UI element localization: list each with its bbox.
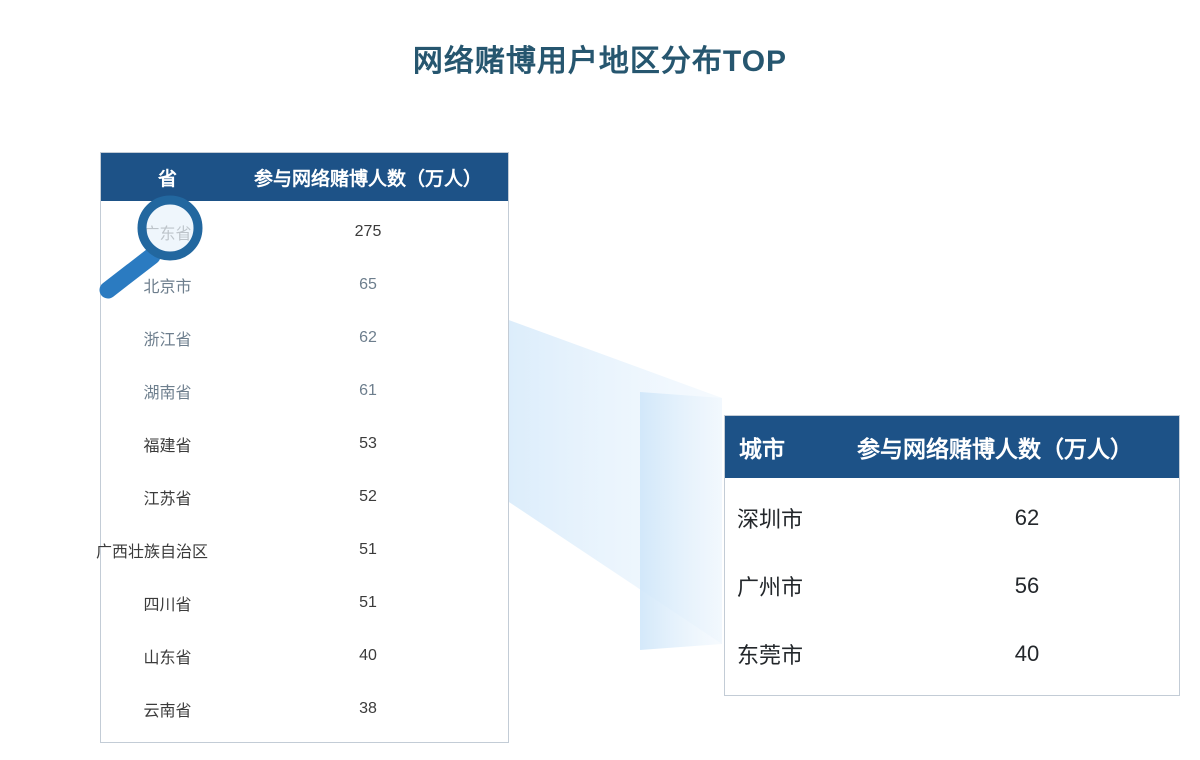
table-row[interactable]: 北京市 65 bbox=[101, 258, 508, 311]
province-value: 40 bbox=[234, 647, 508, 665]
province-value: 51 bbox=[234, 594, 508, 612]
province-name: 云南省 bbox=[101, 697, 234, 721]
province-header-value: 参与网络赌博人数（万人） bbox=[234, 164, 508, 191]
province-name: 广西壮族自治区 bbox=[70, 538, 234, 562]
province-value: 51 bbox=[234, 541, 508, 559]
province-name: 福建省 bbox=[101, 432, 234, 456]
table-row[interactable]: 广东省 275 bbox=[101, 205, 508, 258]
city-name: 广州市 bbox=[737, 570, 937, 602]
table-row[interactable]: 云南省 38 bbox=[101, 682, 508, 735]
province-value: 275 bbox=[234, 223, 508, 241]
table-row[interactable]: 福建省 53 bbox=[101, 417, 508, 470]
page-title: 网络赌博用户地区分布TOP bbox=[0, 36, 1200, 80]
city-value: 40 bbox=[937, 641, 1117, 667]
table-row[interactable]: 深圳市 62 bbox=[725, 484, 1179, 552]
city-table-body: 深圳市 62 广州市 56 东莞市 40 bbox=[725, 478, 1179, 688]
city-header-name: 城市 bbox=[739, 430, 857, 464]
province-value: 62 bbox=[234, 329, 508, 347]
province-name: 广东省 bbox=[101, 220, 234, 244]
province-header-name: 省 bbox=[101, 164, 234, 191]
province-name: 四川省 bbox=[101, 591, 234, 615]
province-name: 山东省 bbox=[101, 644, 234, 668]
province-name: 湖南省 bbox=[101, 379, 234, 403]
province-table-header: 省 参与网络赌博人数（万人） bbox=[101, 153, 508, 201]
table-row[interactable]: 江苏省 52 bbox=[101, 470, 508, 523]
table-row[interactable]: 湖南省 61 bbox=[101, 364, 508, 417]
province-value: 61 bbox=[234, 382, 508, 400]
table-row[interactable]: 东莞市 40 bbox=[725, 620, 1179, 688]
table-row[interactable]: 山东省 40 bbox=[101, 629, 508, 682]
province-table: 省 参与网络赌博人数（万人） 广东省 275 北京市 65 浙江省 62 湖南省… bbox=[100, 152, 509, 743]
city-table-header: 城市 参与网络赌博人数（万人） bbox=[725, 416, 1179, 478]
city-name: 深圳市 bbox=[737, 502, 937, 534]
province-value: 65 bbox=[234, 276, 508, 294]
province-table-body: 广东省 275 北京市 65 浙江省 62 湖南省 61 福建省 53 江苏省 … bbox=[101, 201, 508, 735]
table-row[interactable]: 浙江省 62 bbox=[101, 311, 508, 364]
city-header-value: 参与网络赌博人数（万人） bbox=[857, 430, 1167, 464]
city-name: 东莞市 bbox=[737, 638, 937, 670]
province-name: 北京市 bbox=[101, 273, 234, 297]
province-name: 江苏省 bbox=[101, 485, 234, 509]
province-value: 38 bbox=[234, 700, 508, 718]
province-name: 浙江省 bbox=[101, 326, 234, 350]
city-value: 56 bbox=[937, 573, 1117, 599]
province-value: 53 bbox=[234, 435, 508, 453]
table-row[interactable]: 广州市 56 bbox=[725, 552, 1179, 620]
table-row[interactable]: 广西壮族自治区 51 bbox=[101, 523, 508, 576]
city-table: 城市 参与网络赌博人数（万人） 深圳市 62 广州市 56 东莞市 40 bbox=[724, 415, 1180, 696]
table-row[interactable]: 四川省 51 bbox=[101, 576, 508, 629]
city-value: 62 bbox=[937, 505, 1117, 531]
province-value: 52 bbox=[234, 488, 508, 506]
